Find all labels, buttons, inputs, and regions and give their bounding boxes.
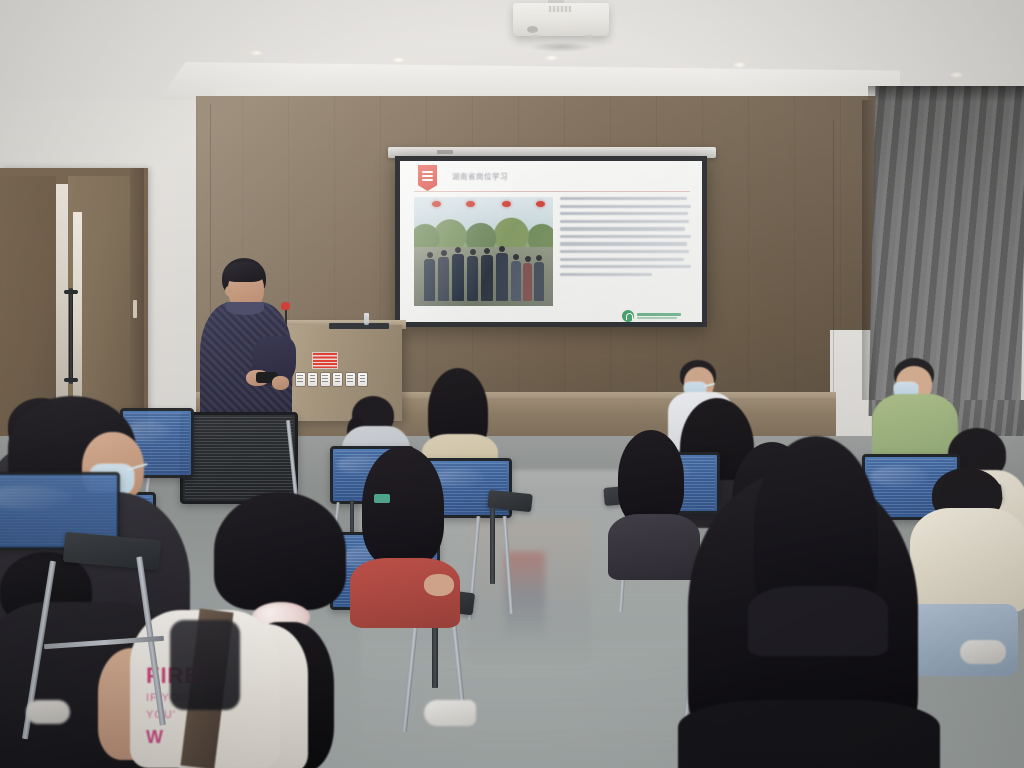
tee-line-4: W — [146, 727, 224, 748]
door-glass-right — [73, 212, 82, 412]
student-hand — [424, 574, 454, 596]
presenter-ear — [225, 286, 232, 296]
lecture-hall-photo: 湖南省岗位学习 — [0, 0, 1024, 768]
projector-shadow — [530, 42, 592, 52]
shoe — [960, 640, 1006, 664]
slide-photo — [414, 197, 553, 306]
projection-screen: 湖南省岗位学习 — [395, 156, 707, 327]
door-handle[interactable] — [69, 288, 73, 384]
presenter-collar — [226, 302, 264, 315]
bag — [170, 620, 240, 710]
slide-body-text — [560, 197, 692, 309]
slide-surface: 湖南省岗位学习 — [400, 161, 702, 322]
presenter-fringe — [224, 262, 264, 282]
university-logo — [622, 309, 690, 322]
slide-header: 湖南省岗位学习 — [400, 165, 702, 191]
projector-foot — [531, 35, 539, 39]
projector-vent — [549, 6, 571, 12]
shoe — [424, 700, 476, 726]
downlight-icon — [545, 55, 558, 61]
door-latch-icon — [133, 300, 137, 318]
downlight-icon — [392, 57, 405, 63]
projector-lens-icon — [527, 26, 538, 33]
water-bottle — [364, 313, 369, 325]
downlight-icon — [733, 62, 746, 68]
chair-post — [490, 508, 495, 584]
hamburger-bookmark-icon — [418, 165, 437, 191]
presenter-chair[interactable] — [180, 412, 298, 504]
presenter-hand-left — [272, 376, 289, 390]
wall-seam — [833, 120, 834, 430]
lectern-desk-object — [329, 323, 389, 329]
chinese-flag-icon — [312, 352, 338, 369]
slide-divider — [414, 191, 690, 192]
student-mid-long-hair-foreground — [754, 436, 882, 646]
screen-housing-slot — [437, 150, 453, 154]
logo-mark-icon — [622, 310, 634, 322]
student-aisle — [612, 430, 694, 570]
curtain-rod-shadow — [868, 86, 1024, 102]
downlight-icon — [250, 50, 263, 56]
slide-title: 湖南省岗位学习 — [452, 171, 508, 182]
curtain-edge — [862, 100, 876, 400]
projector-foot — [585, 35, 593, 39]
door-handle-mount — [64, 378, 78, 382]
door-handle-mount — [64, 290, 78, 294]
shoe — [26, 700, 70, 724]
downlight-icon — [950, 72, 963, 78]
